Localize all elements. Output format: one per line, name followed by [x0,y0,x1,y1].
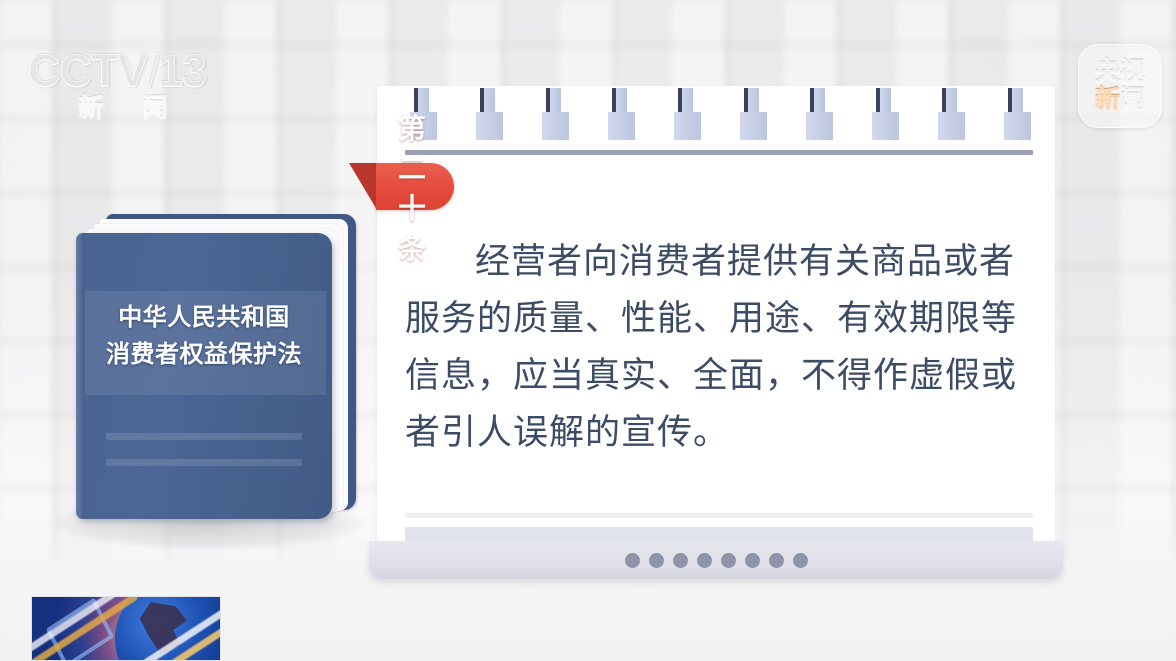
cctv13-logo-text: CCTV [28,45,147,96]
cctv-news-char-shi: 视 [1120,59,1145,86]
cctv13-logo: CCTV/13 新 闻 [28,48,218,134]
video-thumbnail[interactable] [31,596,221,661]
cctv-news-logo-line1: 央 视 [1095,59,1145,86]
broadcast-screen: CCTV/13 新 闻 央 视 新 闻 中华人民共和国 消费者权益保护法 [0,0,1176,661]
book-title: 中华人民共和国 消费者权益保护法 [76,299,332,373]
book-title-line-1: 中华人民共和国 [76,299,332,336]
spiral-ring-icon [869,88,903,144]
page-indicator-dot[interactable] [625,553,640,568]
page-indicator-dot[interactable] [721,553,736,568]
spiral-ring-icon [605,88,639,144]
spiral-ring-icon [473,88,507,144]
cctv-news-char-yang: 央 [1095,59,1120,86]
article-ribbon-label: 第二十条 [376,163,454,210]
ribbon-fold-icon [349,163,377,210]
cctv-news-char-wen: 闻 [1120,87,1145,114]
cctv13-logo-subtitle: 新 闻 [28,95,218,122]
page-indicator-dot[interactable] [745,553,760,568]
law-book: 中华人民共和国 消费者权益保护法 [72,214,362,534]
spiral-ring-icon [1001,88,1035,144]
notebook-spiral-binding [377,84,1055,146]
book-spine [76,233,85,519]
book-cover-rule [106,433,302,440]
notebook-footer [369,541,1063,579]
page-indicator-dot[interactable] [697,553,712,568]
cctv13-logo-slash: / [147,45,159,96]
notebook-card: 第二十条 经营者向消费者提供有关商品或者服务的质量、性能、用途、有效期限等信息，… [377,86,1055,551]
spiral-ring-icon [803,88,837,144]
notebook-bottom-rule [405,513,1033,518]
book-front-cover: 中华人民共和国 消费者权益保护法 [76,233,332,519]
cctv-news-logo-line2: 新 闻 [1095,87,1145,114]
spiral-ring-icon [935,88,969,144]
page-indicator-dot[interactable] [673,553,688,568]
cctv13-logo-wordmark: CCTV/13 [28,48,218,94]
notebook-top-rule [405,150,1033,155]
article-text: 经营者向消费者提供有关商品或者服务的质量、性能、用途、有效期限等信息，应当真实、… [405,234,1037,462]
page-indicator-dot[interactable] [769,553,784,568]
cctv-news-char-xin: 新 [1095,87,1120,114]
spiral-ring-icon [737,88,771,144]
spiral-ring-icon [539,88,573,144]
book-cover-rule [106,459,302,466]
book-title-line-2: 消费者权益保护法 [76,336,332,373]
spiral-ring-icon [671,88,705,144]
cctv-news-logo: 央 视 新 闻 [1078,44,1162,128]
page-indicator-dot[interactable] [649,553,664,568]
cctv13-logo-number: 13 [158,45,206,96]
page-indicator-dot[interactable] [793,553,808,568]
